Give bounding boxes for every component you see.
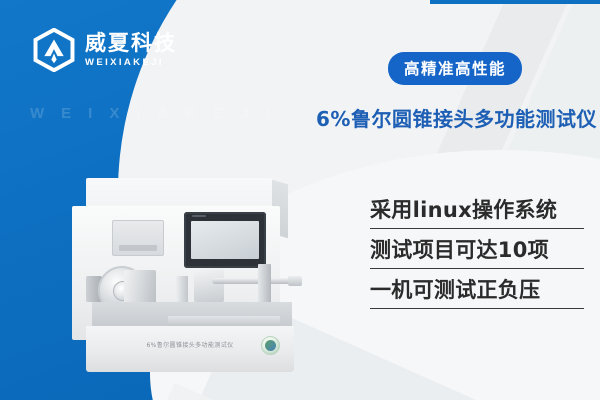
brand-name-cn: 威夏科技	[85, 33, 177, 54]
page-title: 6%鲁尔圆锥接头多功能测试仪	[316, 103, 597, 132]
feature-item: 测试项目可达10项	[370, 238, 588, 269]
hmi-touchscreen[interactable]	[184, 212, 266, 268]
machine-shaft-rod	[212, 278, 298, 284]
feature-divider	[370, 308, 584, 310]
certification-seal-icon	[261, 336, 280, 355]
feature-item: 采用linux操作系统	[370, 198, 588, 229]
screen-indicator-icon	[192, 215, 206, 217]
feature-divider	[370, 268, 584, 270]
banner-stage: 威夏科技 WEIXIAKEJI WEIXIAKEJI 高精准高性能 6%鲁尔圆锥…	[0, 0, 600, 400]
background-watermark: WEIXIAKEJI	[30, 105, 287, 122]
machine-body: 6%鲁尔圆锥接头多功能测试仪	[72, 206, 280, 340]
headline-badge: 高精准高性能	[388, 52, 522, 85]
feature-label: 采用linux操作系统	[370, 198, 588, 222]
machine-access-panel	[112, 220, 164, 256]
brand-logo: 威夏科技 WEIXIAKEJI	[32, 28, 177, 72]
machine-panel-handle	[119, 245, 157, 251]
brand-name-en: WEIXIAKEJI	[85, 58, 177, 68]
feature-item: 一机可测试正负压	[370, 278, 588, 309]
feature-divider	[370, 228, 584, 230]
machine-front-panel: 6%鲁尔圆锥接头多功能测试仪	[86, 326, 294, 372]
feature-label: 测试项目可达10项	[370, 238, 588, 262]
screen-display-area	[191, 221, 259, 259]
top-accent-rule	[430, 0, 600, 4]
feature-label: 一机可测试正负压	[370, 278, 588, 302]
certification-seal-inner	[265, 340, 276, 351]
machine-shaft-cap	[288, 276, 302, 286]
machine-test-fixture	[194, 268, 224, 302]
feature-list: 采用linux操作系统 测试项目可达10项 一机可测试正负压	[370, 198, 588, 318]
product-image: 6%鲁尔圆锥接头多功能测试仪	[58, 176, 310, 372]
brand-logo-text: 威夏科技 WEIXIAKEJI	[85, 33, 177, 68]
hexagon-arrow-logo-icon	[32, 28, 76, 72]
